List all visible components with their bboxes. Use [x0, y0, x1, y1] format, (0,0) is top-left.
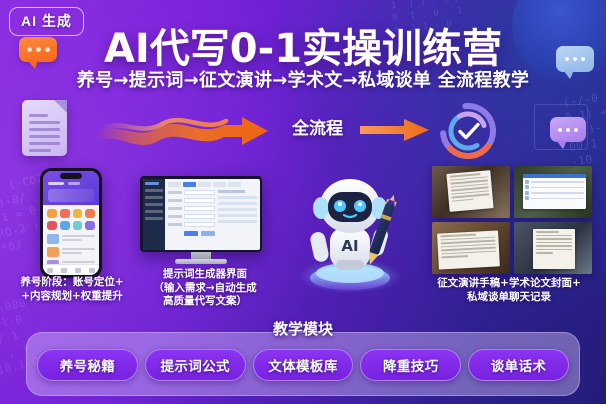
ai-robot-mascot: AI [292, 168, 408, 294]
page-subtitle: 养号→提示词→征文演讲→学术文→私域谈单 全流程教学 [0, 66, 606, 92]
modules-row: 养号秘籍 提示词公式 文体模板库 降重技巧 谈单话术 [37, 349, 569, 381]
photo-collage [432, 166, 592, 274]
module-pill-5[interactable]: 谈单话术 [468, 349, 569, 381]
caption-right: 征文演讲手稿+学术论文封面+ 私域谈单聊天记录 [412, 277, 606, 304]
modules-title: 教学模块 [27, 318, 579, 339]
donut-progress-icon [437, 100, 499, 162]
photo-clipboard-laptop [514, 222, 592, 274]
speech-bubble-violet-icon [550, 117, 586, 142]
teaching-modules-panel: 教学模块 养号秘籍 提示词公式 文体模板库 降重技巧 谈单话术 [26, 332, 580, 396]
flow-label: 全流程 [292, 114, 343, 139]
photo-paper-on-desk [432, 222, 510, 274]
module-pill-2[interactable]: 提示词公式 [145, 349, 246, 381]
photo-chat-window [514, 166, 592, 218]
phone-mockup [40, 168, 102, 278]
phone-icon-grid [43, 205, 99, 232]
module-pill-4[interactable]: 降重技巧 [360, 349, 461, 381]
monitor-mockup [140, 176, 262, 264]
ribbon-arrow-icon [92, 108, 292, 152]
photo-document-in-hand [432, 166, 510, 218]
svg-text:AI: AI [341, 237, 358, 255]
promo-poster: 0 (-CO2 )-0/ -1 = 0 RO-2 ) *0/ 0--000 / … [0, 0, 606, 404]
arrow-right-icon [360, 118, 430, 142]
module-pill-1[interactable]: 养号秘籍 [37, 349, 138, 381]
module-pill-3[interactable]: 文体模板库 [253, 349, 354, 381]
caption-center: 提示词生成器界面 （输入需求→自动生成 高质量代写文案） [140, 268, 270, 309]
document-icon [22, 100, 67, 156]
caption-left: 养号阶段：账号定位+ +内容规划+权重提升 [2, 276, 142, 303]
